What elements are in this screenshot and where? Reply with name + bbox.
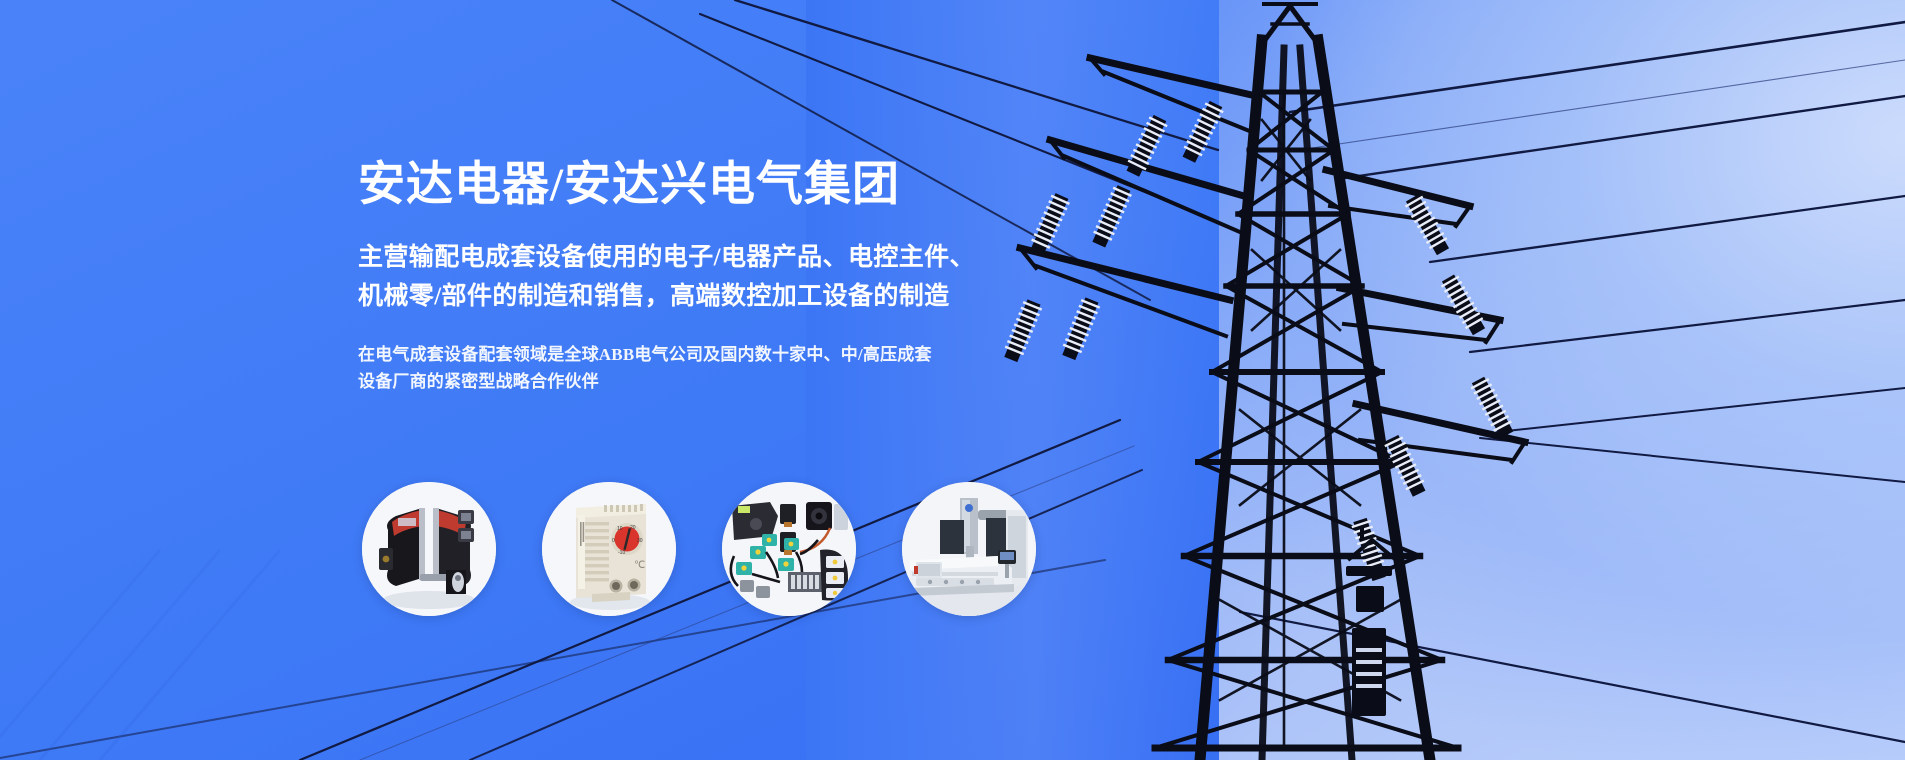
electronic-component-assembly-icon <box>722 482 856 616</box>
banner-copy: 安达电器/安达兴电气集团 主营输配电成套设备使用的电子/电器产品、电控主件、 机… <box>358 160 1098 396</box>
svg-text:0: 0 <box>612 538 615 544</box>
thumbnail-split-core-current-transformer[interactable] <box>362 482 496 616</box>
subtitle-line-2: 机械零/部件的制造和销售，高端数控加工设备的制造 <box>358 277 1098 317</box>
page-title: 安达电器/安达兴电气集团 <box>358 160 1098 212</box>
thumbnail-electronic-component-assembly[interactable] <box>722 482 856 616</box>
hero-banner: 安达电器/安达兴电气集团 主营输配电成套设备使用的电子/电器产品、电控主件、 机… <box>0 0 1905 760</box>
subtitle-line-1: 主营输配电成套设备使用的电子/电器产品、电控主件、 <box>358 238 1098 278</box>
description-line-1: 在电气成套设备配套领域是全球ABB电气公司及国内数十家中、中/高压成套 <box>358 341 1098 369</box>
description-line-2: 设备厂商的紧密型战略合作伙伴 <box>358 368 1098 396</box>
decorative-stripes <box>0 530 360 760</box>
cabinet-thermostat-icon: 1020 030 -10 ℃ <box>542 482 676 616</box>
thumbnail-cnc-gantry-machining-center[interactable] <box>902 482 1036 616</box>
svg-text:20: 20 <box>630 525 636 531</box>
svg-text:-10: -10 <box>618 550 625 556</box>
split-core-current-transformer-icon <box>362 482 496 616</box>
thumbnail-cabinet-thermostat[interactable]: 1020 030 -10 ℃ <box>542 482 676 616</box>
product-thumbnail-row: 1020 030 -10 ℃ <box>362 482 1036 616</box>
svg-text:10: 10 <box>617 526 623 532</box>
description-block: 在电气成套设备配套领域是全球ABB电气公司及国内数十家中、中/高压成套 设备厂商… <box>358 341 1098 396</box>
celsius-label: ℃ <box>634 560 645 571</box>
svg-text:30: 30 <box>637 538 643 544</box>
cnc-gantry-machining-center-icon <box>902 482 1036 616</box>
